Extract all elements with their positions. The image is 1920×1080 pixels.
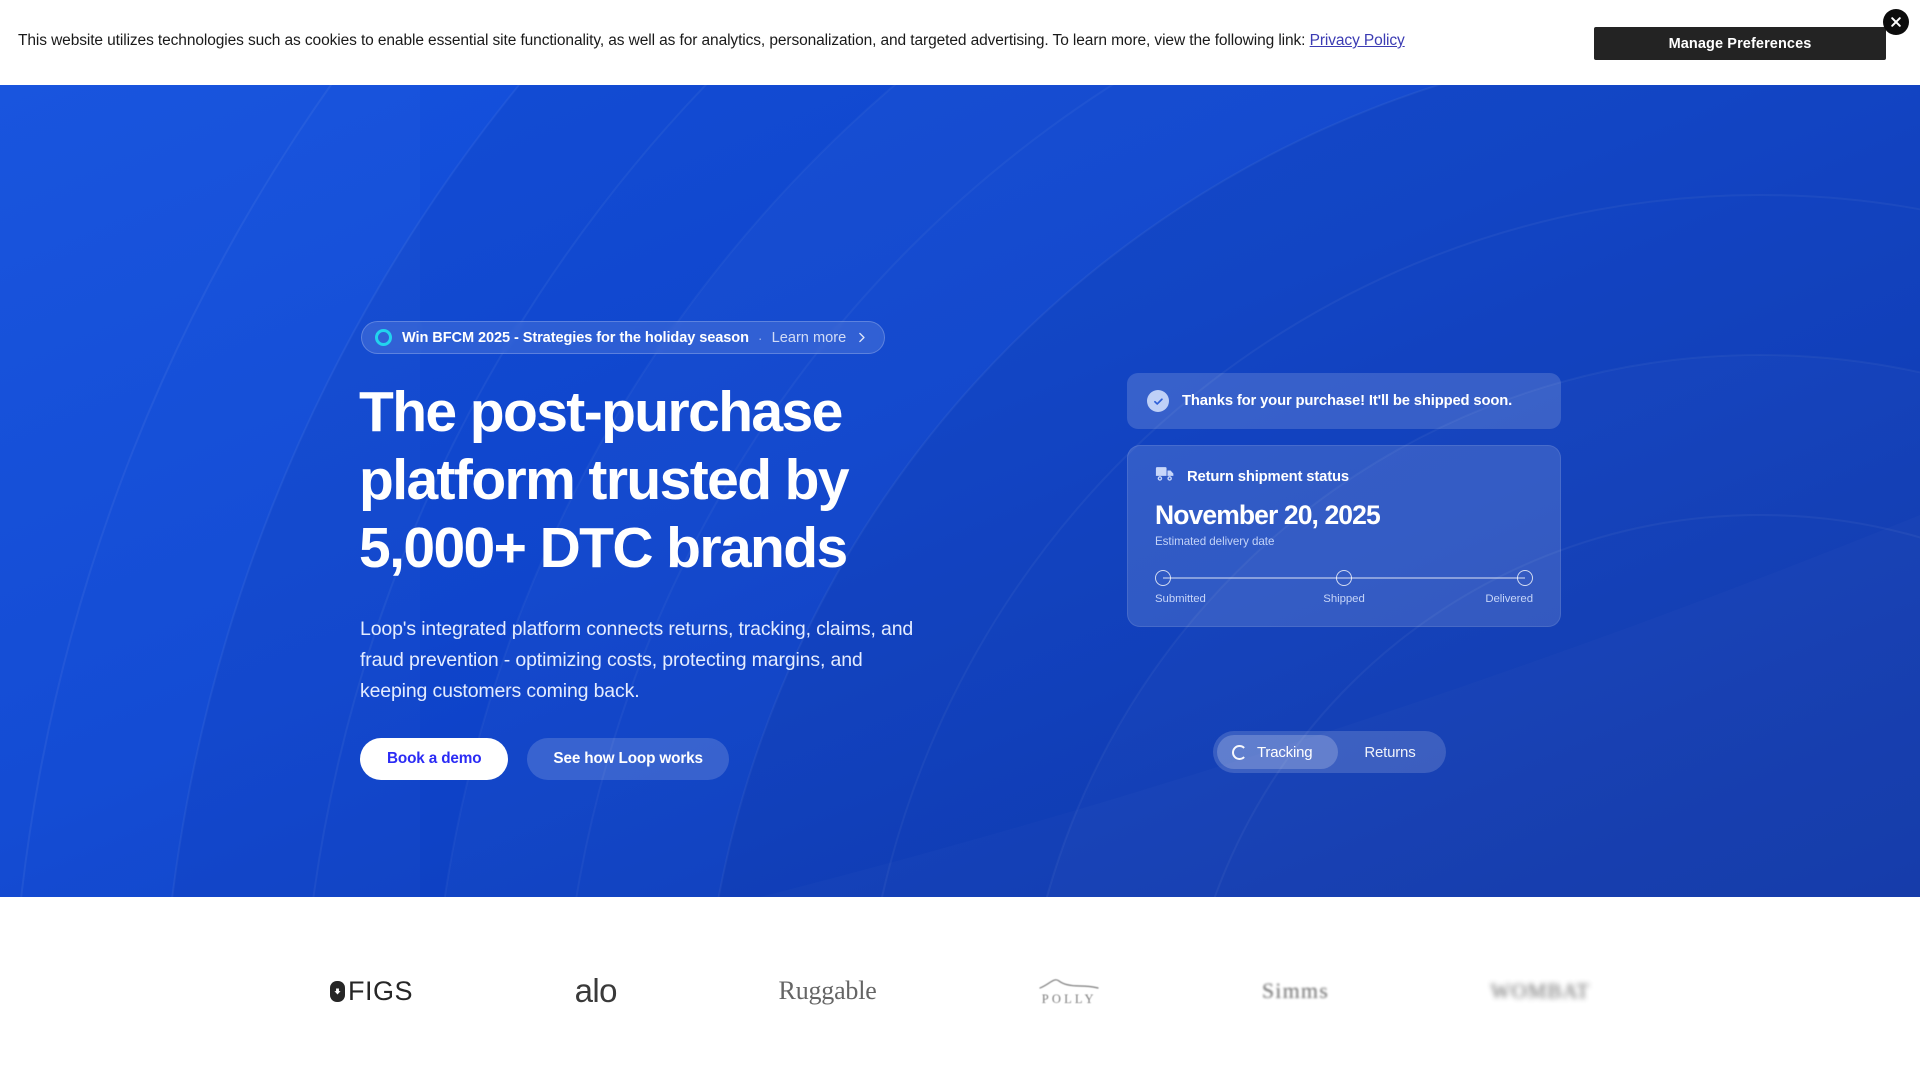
status-card-title: Return shipment status	[1187, 469, 1349, 485]
manage-preferences-button[interactable]: Manage Preferences	[1594, 27, 1886, 60]
cookie-consent-message-text: This website utilizes technologies such …	[18, 32, 1305, 49]
progress-node-shipped[interactable]	[1336, 570, 1352, 586]
close-banner-button[interactable]	[1883, 9, 1909, 35]
truck-icon	[1155, 466, 1175, 487]
loop-ring-icon	[375, 329, 392, 346]
cookie-consent-message: This website utilizes technologies such …	[18, 31, 1405, 51]
book-a-demo-button[interactable]: Book a demo	[360, 738, 508, 780]
progress-label-submitted: Submitted	[1155, 593, 1206, 605]
announcement-text: Win BFCM 2025 - Strategies for the holid…	[402, 330, 749, 346]
tab-tracking[interactable]: Tracking	[1217, 735, 1338, 769]
chevron-right-icon	[855, 331, 868, 344]
progress-label-delivered: Delivered	[1485, 593, 1533, 605]
purchase-confirmation-toast: Thanks for your purchase! It'll be shipp…	[1127, 373, 1561, 429]
estimated-delivery-date-value: November 20, 2025	[1155, 500, 1533, 531]
logo-alo-text: alo	[575, 972, 617, 1010]
page-title: The post-purchase platform trusted by 5,…	[359, 378, 959, 582]
hero-section: Win BFCM 2025 - Strategies for the holid…	[0, 85, 1920, 897]
tab-returns-label: Returns	[1364, 744, 1415, 761]
spinner-icon	[1232, 745, 1247, 760]
shipment-progress-track	[1155, 570, 1533, 586]
hero-subcopy: Loop's integrated platform connects retu…	[360, 614, 1000, 707]
logo-ruggable-text: Ruggable	[779, 976, 877, 1006]
check-circle-icon	[1147, 390, 1169, 412]
announcement-pill[interactable]: Win BFCM 2025 - Strategies for the holid…	[361, 321, 885, 354]
cookie-consent-banner: This website utilizes technologies such …	[0, 0, 1920, 85]
return-shipment-status-card: Return shipment status November 20, 2025…	[1127, 445, 1561, 627]
polly-swoosh-icon	[1038, 975, 1100, 991]
logo-ruggable: Ruggable	[779, 969, 877, 1013]
logo-simms-text: Simms	[1262, 978, 1329, 1004]
privacy-policy-link[interactable]: Privacy Policy	[1310, 32, 1405, 49]
status-card-header: Return shipment status	[1155, 466, 1533, 487]
logo-track: FIGS alo Ruggable POLLY Simms WOMBAT	[330, 969, 1590, 1013]
progress-node-delivered[interactable]	[1517, 570, 1533, 586]
logo-simms: Simms	[1262, 969, 1329, 1013]
toast-message: Thanks for your purchase! It'll be shipp…	[1182, 393, 1512, 409]
tab-returns[interactable]: Returns	[1338, 735, 1441, 769]
tab-tracking-label: Tracking	[1257, 744, 1312, 761]
logo-polly: POLLY	[1038, 969, 1100, 1013]
hero-cta-row: Book a demo See how Loop works	[360, 738, 729, 780]
see-how-loop-works-button[interactable]: See how Loop works	[527, 738, 728, 780]
progress-node-submitted[interactable]	[1155, 570, 1171, 586]
logo-wombat-text: WOMBAT	[1491, 979, 1590, 1004]
figs-mark-icon	[330, 981, 345, 1002]
close-icon	[1888, 14, 1904, 30]
announcement-learn-more-link[interactable]: Learn more	[772, 330, 847, 346]
estimated-delivery-date-caption: Estimated delivery date	[1155, 535, 1533, 548]
widget-tab-switcher: Tracking Returns	[1213, 731, 1446, 773]
logo-wombat: WOMBAT	[1491, 969, 1590, 1013]
customer-logo-strip: FIGS alo Ruggable POLLY Simms WOMBAT	[0, 897, 1920, 1080]
logo-polly-text: POLLY	[1042, 992, 1097, 1007]
progress-label-shipped: Shipped	[1323, 593, 1364, 605]
logo-figs: FIGS	[330, 969, 413, 1013]
announcement-separator: ·	[758, 330, 763, 346]
logo-alo: alo	[575, 969, 617, 1013]
logo-figs-text: FIGS	[348, 976, 413, 1007]
shipment-progress-labels: Submitted Shipped Delivered	[1155, 593, 1533, 609]
